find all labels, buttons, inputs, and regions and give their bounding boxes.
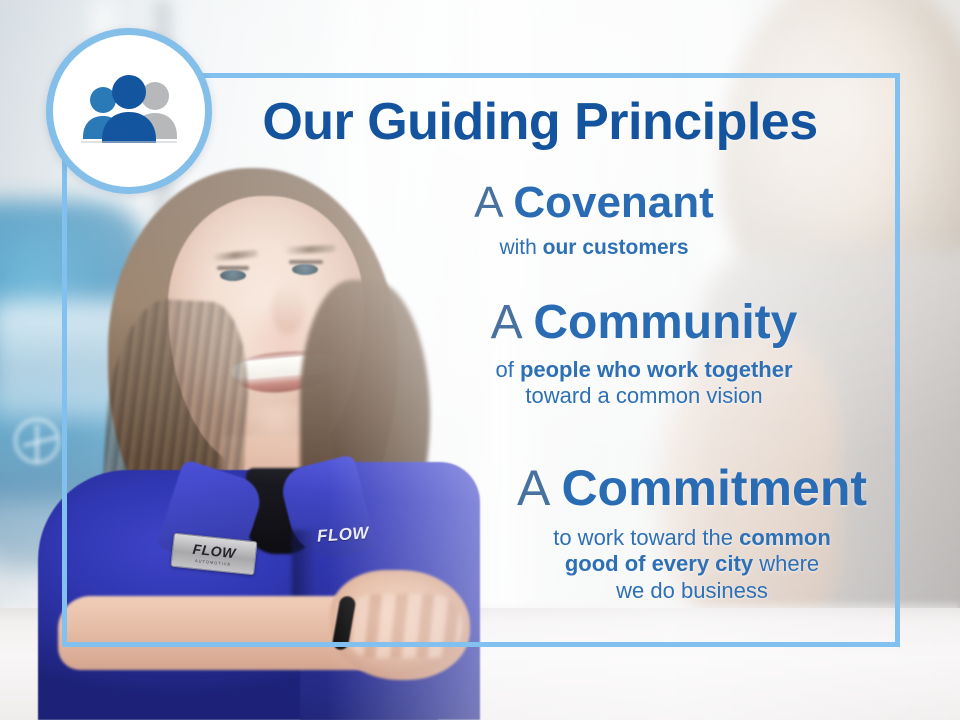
principle-community: A Community of people who work togethert… <box>358 298 930 410</box>
principle-covenant: A Covenant with our customers <box>308 180 880 260</box>
eye-right <box>292 264 318 275</box>
principle-keyword: Covenant <box>513 178 713 227</box>
group-people-icon <box>76 75 182 147</box>
principle-description: with our customers <box>308 235 880 260</box>
principle-heading: A Commitment <box>406 462 960 515</box>
principle-commitment: A Commitment to work toward the commongo… <box>406 462 960 604</box>
principle-article: A <box>474 178 501 227</box>
principle-heading: A Covenant <box>308 180 880 227</box>
principle-keyword: Community <box>533 296 797 349</box>
page-title: Our Guiding Principles <box>210 96 870 148</box>
principle-keyword: Commitment <box>561 460 867 516</box>
principle-heading: A Community <box>358 298 930 349</box>
eye-left <box>220 270 246 281</box>
principle-description: to work toward the commongood of every c… <box>406 525 960 604</box>
principle-article: A <box>491 296 520 349</box>
principle-description: of people who work togethertoward a comm… <box>358 357 930 410</box>
principle-article: A <box>517 460 548 516</box>
nose <box>272 288 304 334</box>
promo-graphic: FLOW AUTOMOTIVE FLOW <box>0 0 960 720</box>
group-icon-badge <box>46 28 212 194</box>
